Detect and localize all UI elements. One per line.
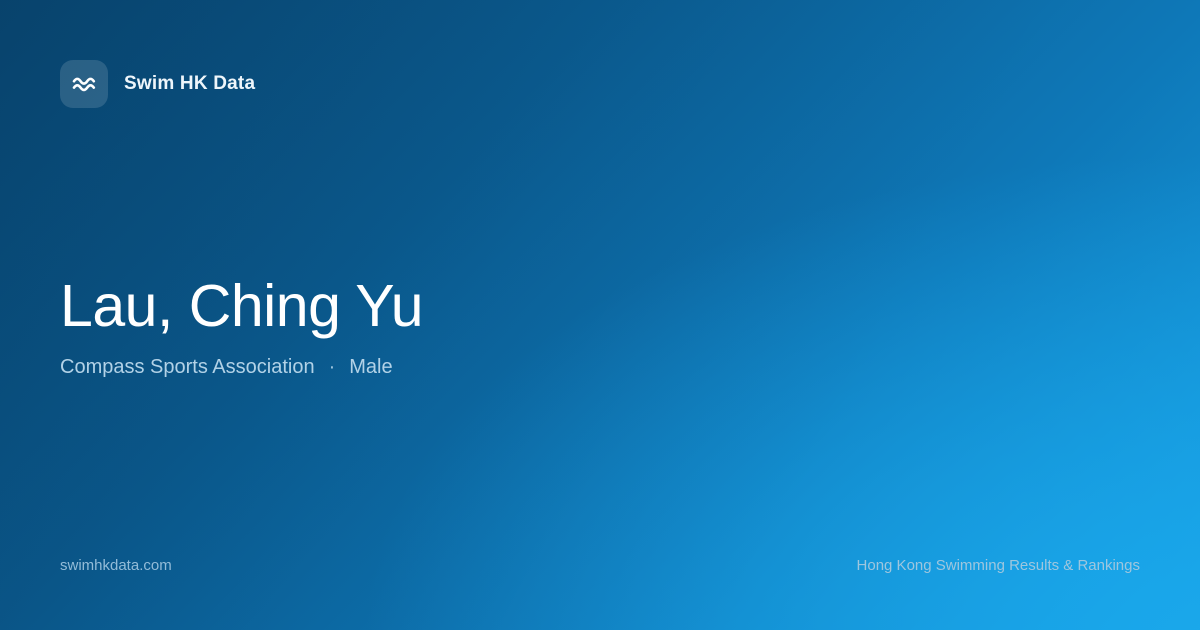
- club-name: Compass Sports Association: [60, 354, 315, 380]
- gender-label: Male: [349, 354, 392, 380]
- footer: swimhkdata.com Hong Kong Swimming Result…: [60, 557, 1140, 574]
- og-card: Swim HK Data Lau, Ching Yu Compass Sport…: [0, 0, 1200, 630]
- app-logo-tile: [60, 60, 108, 108]
- wave-icon: [71, 74, 97, 94]
- hero-block: Lau, Ching Yu Compass Sports Association…: [60, 275, 423, 380]
- site-tagline: Hong Kong Swimming Results & Rankings: [857, 557, 1140, 574]
- brand-lockup[interactable]: Swim HK Data: [60, 60, 255, 108]
- page-subtitle: Compass Sports Association · Male: [60, 354, 423, 380]
- subtitle-separator: ·: [315, 354, 350, 380]
- page-title: Lau, Ching Yu: [60, 275, 423, 338]
- site-url: swimhkdata.com: [60, 557, 172, 574]
- brand-name: Swim HK Data: [124, 73, 255, 95]
